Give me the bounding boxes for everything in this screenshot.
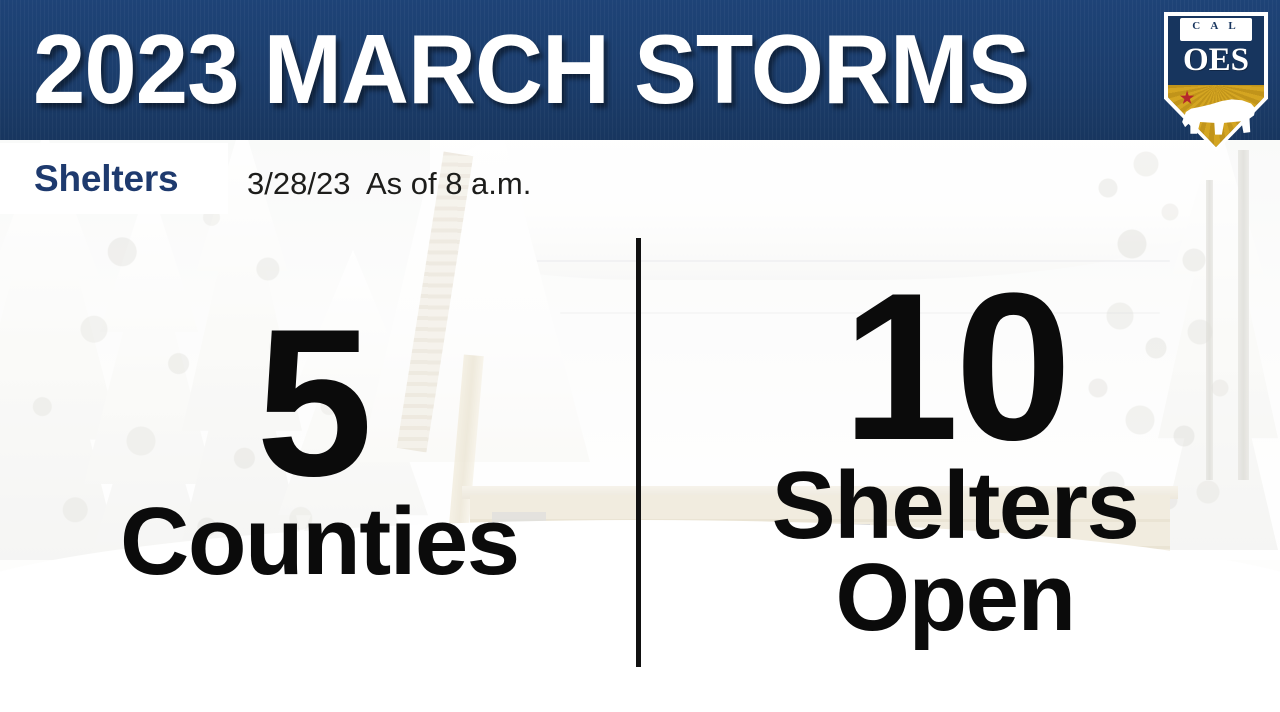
logo-cal-text: C A L bbox=[1164, 19, 1268, 34]
category-label: Shelters bbox=[0, 158, 178, 200]
logo-oes-text: OES bbox=[1164, 43, 1268, 77]
infographic-slide: 2023 MARCH STORMS C A L OES Shelters 3/2… bbox=[0, 0, 1280, 712]
category-badge: Shelters bbox=[0, 143, 228, 214]
stat-counties-number: 5 bbox=[120, 318, 505, 488]
vertical-divider bbox=[636, 238, 641, 667]
stat-shelters-label-line2: Open bbox=[745, 552, 1165, 644]
stat-shelters-number: 10 bbox=[745, 282, 1165, 452]
stat-shelters-label-line1: Shelters bbox=[745, 460, 1165, 552]
header-bar: 2023 MARCH STORMS bbox=[0, 0, 1280, 140]
timestamp-label: 3/28/23 As of 8 a.m. bbox=[247, 166, 531, 202]
cal-oes-logo: C A L OES bbox=[1164, 12, 1268, 152]
stat-shelters-open: 10 Shelters Open bbox=[745, 282, 1165, 644]
stat-counties-label: Counties bbox=[120, 496, 505, 588]
stat-counties: 5 Counties bbox=[120, 318, 505, 588]
page-title: 2023 MARCH STORMS bbox=[33, 14, 1029, 124]
